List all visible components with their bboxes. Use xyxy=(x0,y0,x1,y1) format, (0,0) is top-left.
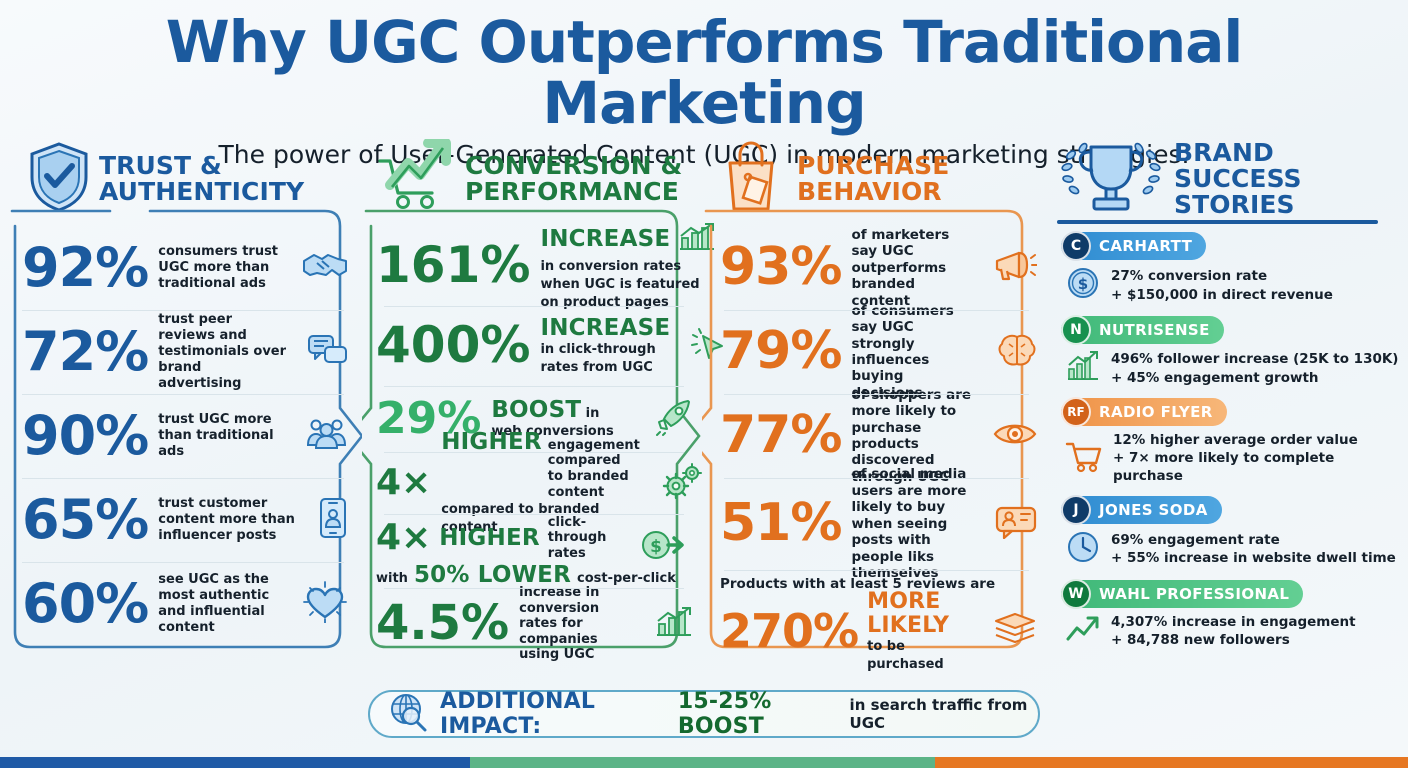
stat-text-group: INCREASE in click-through rates from UGC xyxy=(540,316,670,376)
page-title: Why UGC Outperforms Traditional Marketin… xyxy=(0,12,1408,134)
stat-headline: HIGHER xyxy=(439,526,540,550)
stat-value: 161% xyxy=(376,242,530,290)
brand-initials: J xyxy=(1061,495,1091,525)
stat-text: consumers trust UGC more than traditiona… xyxy=(158,244,282,292)
stat-value: 77% xyxy=(720,411,841,460)
footer-segment-green xyxy=(470,757,935,768)
column-header: BRAND SUCCESS STORIES xyxy=(1047,140,1408,218)
brand-initials: C xyxy=(1061,231,1091,261)
svg-text:$: $ xyxy=(1078,275,1088,293)
cart-growth-arrow-icon xyxy=(372,139,456,220)
stat-row: 92% consumers trust UGC more than tradit… xyxy=(0,226,362,310)
dollar-arrow-icon: $ xyxy=(640,528,684,567)
chat-bubbles-icon xyxy=(308,333,348,372)
eye-icon xyxy=(993,419,1037,454)
column-title: CONVERSION & PERFORMANCE xyxy=(465,153,682,206)
stat-prefix: with xyxy=(376,571,408,587)
brand-stats: 69% engagement rate + 55% increase in we… xyxy=(1111,531,1396,567)
stat-headline: INCREASE xyxy=(540,227,670,251)
banner-highlight-text: 15-25% BOOST xyxy=(678,689,840,739)
column-conversion-performance: CONVERSION & PERFORMANCE 161% INCREASE xyxy=(362,140,702,670)
svg-text:$: $ xyxy=(650,537,662,557)
brand-stats: 12% higher average order value + 7× more… xyxy=(1113,431,1402,486)
stat-text: in click-through rates from UGC xyxy=(540,342,655,375)
stat-value: 270% xyxy=(720,610,858,654)
stat-row: 90% trust UGC more than traditional ads xyxy=(0,394,362,478)
brand-name: JONES SODA xyxy=(1099,501,1208,519)
stat-row: 161% INCREASE xyxy=(362,226,702,306)
column-brand-success-stories: BRAND SUCCESS STORIES C CARHARTT xyxy=(1047,140,1408,670)
stat-text: to be purchased xyxy=(867,639,944,672)
stat-text: trust customer content more than influen… xyxy=(158,496,298,544)
column-title: BRAND SUCCESS STORIES xyxy=(1174,140,1408,219)
brand-block: RF RADIO FLYER 12% higher averag xyxy=(1047,398,1408,486)
brand-initials: RF xyxy=(1061,397,1091,427)
stat-row: 72% trust peer reviews and testimonials … xyxy=(0,310,362,394)
stat-value: 51% xyxy=(720,499,841,548)
column-title: PURCHASE BEHAVIOR xyxy=(797,153,949,206)
brand-stats: 27% conversion rate + $150,000 in direct… xyxy=(1111,267,1333,303)
brand-line-2: + 7× more likely to complete purchase xyxy=(1113,449,1402,485)
column-header: PURCHASE BEHAVIOR xyxy=(702,140,1047,218)
brand-body: 4,307% increase in engagement + 84,788 n… xyxy=(1061,608,1402,650)
stacked-layers-icon xyxy=(993,611,1037,652)
mobile-profile-icon xyxy=(318,497,348,544)
stat-headline: INCREASE xyxy=(540,315,670,341)
stat-value: 92% xyxy=(22,242,148,293)
stat-value: 72% xyxy=(22,326,148,377)
brand-badge: N NUTRISENSE xyxy=(1061,316,1224,344)
bar-chart-arrow-icon xyxy=(654,605,694,644)
stat-text: of marketers say UGC outperforms branded… xyxy=(851,227,973,309)
stat-value: 4× xyxy=(376,521,431,555)
shopping-bag-tag-icon xyxy=(716,139,788,220)
brand-line-1: 27% conversion rate xyxy=(1111,267,1333,285)
columns-container: TRUST & AUTHENTICITY 92% consumers trust… xyxy=(0,140,1408,670)
stat-value: 65% xyxy=(22,494,148,545)
stats-list: 93% of marketers say UGC outperforms bra… xyxy=(702,226,1047,670)
column-header: TRUST & AUTHENTICITY xyxy=(0,140,362,218)
trophy-laurel-icon xyxy=(1057,139,1165,220)
brand-initials: N xyxy=(1061,315,1091,345)
stat-text: engagement compared to branded content xyxy=(548,438,640,500)
stat-text: trust peer reviews and testimonials over… xyxy=(158,312,288,391)
stat-text-group: 4× HIGHER click-through rates with 50% L… xyxy=(376,515,676,588)
brain-icon xyxy=(997,332,1037,373)
brand-badge: C CARHARTT xyxy=(1061,232,1206,260)
stat-row: 4× HIGHER click-through rates with 50% L… xyxy=(362,514,702,588)
stat-text: see UGC as the most authentic and influe… xyxy=(158,572,282,635)
brand-line-1: 69% engagement rate xyxy=(1111,531,1396,549)
stat-row: 60% see UGC as the most authentic and in… xyxy=(0,562,362,646)
stat-value: 79% xyxy=(720,327,841,376)
stat-row: 93% of marketers say UGC outperforms bra… xyxy=(702,226,1047,310)
stat-row: 79% of consumers say UGC strongly influe… xyxy=(702,310,1047,394)
gears-icon xyxy=(660,462,702,505)
brand-line-2: + 55% increase in website dwell time xyxy=(1111,549,1396,567)
brand-block: C CARHARTT $ 27% conversion rate xyxy=(1047,232,1408,306)
megaphone-icon xyxy=(993,248,1037,289)
brand-body: $ 27% conversion rate + $150,000 in dire… xyxy=(1061,260,1402,306)
globe-search-icon xyxy=(388,692,430,737)
additional-impact-banner: ADDITIONAL IMPACT: 15-25% BOOST in searc… xyxy=(368,690,1040,738)
brand-badge: W WAHL PROFESSIONAL xyxy=(1061,580,1303,608)
dollar-coin-icon: $ xyxy=(1065,265,1101,306)
stat-text-group: INCREASE xyxy=(540,222,717,311)
brand-stats: 496% follower increase (25K to 130K) + 4… xyxy=(1111,350,1398,386)
stat-row: 400% INCREASE in click-through rates fro… xyxy=(362,306,702,386)
shopping-cart-icon xyxy=(1065,439,1103,478)
column-header-rule xyxy=(1057,220,1378,224)
brand-name: RADIO FLYER xyxy=(1099,403,1213,421)
column-title: TRUST & AUTHENTICITY xyxy=(99,153,304,206)
brand-name: WAHL PROFESSIONAL xyxy=(1099,585,1289,603)
brand-block: J JONES SODA 69% engagement rate + xyxy=(1047,496,1408,570)
brand-line-1: 4,307% increase in engagement xyxy=(1111,613,1356,631)
growth-chart-icon xyxy=(1065,349,1101,388)
stat-text: of social media users are more likely to… xyxy=(851,466,975,581)
stat-row: 4× HIGHER engagement compared to branded… xyxy=(362,452,702,514)
rocket-icon xyxy=(654,398,694,441)
brand-badge: RF RADIO FLYER xyxy=(1061,398,1227,426)
stat-row: 51% of social media users are more likel… xyxy=(702,478,1047,570)
banner-strong-text: ADDITIONAL IMPACT: xyxy=(440,689,668,739)
brand-line-2: + 84,788 new followers xyxy=(1111,631,1356,649)
banner-rest-text: in search traffic from UGC xyxy=(850,696,1038,732)
stat-value: 60% xyxy=(22,578,148,629)
brand-list: C CARHARTT $ 27% conversion rate xyxy=(1047,232,1408,670)
stats-list: 92% consumers trust UGC more than tradit… xyxy=(0,226,362,670)
stat-row: Products with at least 5 reviews are 270… xyxy=(702,570,1047,654)
shield-check-icon xyxy=(28,141,90,218)
stat-headline: BOOST xyxy=(491,397,581,423)
stat-value: 4× xyxy=(376,466,431,500)
brand-body: 69% engagement rate + 55% increase in we… xyxy=(1061,524,1402,570)
brand-name: NUTRISENSE xyxy=(1099,321,1210,339)
stat-text: in conversion rates when UGC is featured… xyxy=(540,259,699,310)
column-header: CONVERSION & PERFORMANCE xyxy=(362,140,702,218)
footer-segment-blue xyxy=(0,757,470,768)
stat-value: 90% xyxy=(22,410,148,461)
brand-line-2: + $150,000 in direct revenue xyxy=(1111,286,1333,304)
handshake-icon xyxy=(302,249,348,288)
stats-list: 161% INCREASE xyxy=(362,226,702,670)
stat-value: 400% xyxy=(376,322,530,370)
people-group-icon xyxy=(306,417,348,456)
brand-body: 496% follower increase (25K to 130K) + 4… xyxy=(1061,344,1402,388)
brand-line-1: 12% higher average order value xyxy=(1113,431,1402,449)
infographic-canvas: Why UGC Outperforms Traditional Marketin… xyxy=(0,0,1408,768)
stat-value: 93% xyxy=(720,243,841,292)
stat-text: increase in conversion rates for compani… xyxy=(519,585,634,663)
stat-row: 4.5% increase in conversion rates for co… xyxy=(362,588,702,660)
stat-headline: HIGHER xyxy=(441,430,542,454)
stat-headline: MORE LIKELY xyxy=(867,590,975,636)
stat-text: trust UGC more than traditional ads xyxy=(158,412,286,460)
column-purchase-behavior: PURCHASE BEHAVIOR 93% of marketers say U… xyxy=(702,140,1047,670)
trend-up-icon xyxy=(1065,613,1101,650)
brand-initials: W xyxy=(1061,579,1091,609)
brand-name: CARHARTT xyxy=(1099,237,1192,255)
brand-block: N NUTRISENSE xyxy=(1047,316,1408,388)
brand-stats: 4,307% increase in engagement + 84,788 n… xyxy=(1111,613,1356,649)
stat-value-secondary: 50% LOWER xyxy=(414,563,571,587)
stat-value: 4.5% xyxy=(376,601,509,647)
brand-line-2: + 45% engagement growth xyxy=(1111,369,1398,387)
brand-badge: J JONES SODA xyxy=(1061,496,1222,524)
brand-block: W WAHL PROFESSIONAL 4,307% increase in e… xyxy=(1047,580,1408,650)
footer-segment-orange xyxy=(935,757,1408,768)
user-comment-icon xyxy=(995,505,1037,544)
brand-line-1: 496% follower increase (25K to 130K) xyxy=(1111,350,1398,368)
clock-icon xyxy=(1065,529,1101,570)
brand-body: 12% higher average order value + 7× more… xyxy=(1061,426,1402,486)
shining-heart-icon xyxy=(302,581,348,628)
stat-row: 65% trust customer content more than inf… xyxy=(0,478,362,562)
column-trust-authenticity: TRUST & AUTHENTICITY 92% consumers trust… xyxy=(0,140,362,670)
stat-text: click-through rates xyxy=(548,515,628,562)
footer-color-bar xyxy=(0,757,1408,768)
